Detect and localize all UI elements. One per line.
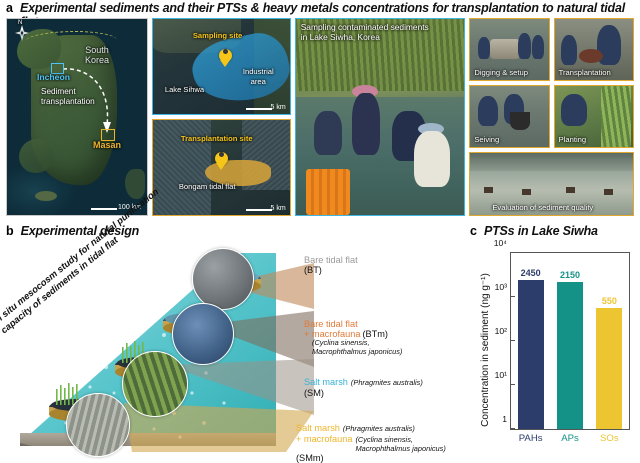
photo-caption: Transplantation bbox=[559, 68, 611, 78]
treatment-code: (SM) bbox=[304, 388, 423, 398]
mesocosm-marker bbox=[522, 189, 531, 195]
chart-y-tick-mark bbox=[511, 340, 515, 341]
panel-b-experimental-design: In situ mesocosm study for natural purif… bbox=[4, 243, 464, 461]
panel-c-bar-chart: Concentration in sediment (ng g⁻¹) 10⁴10… bbox=[466, 246, 638, 460]
photo-caption: Evaluation of sediment quality bbox=[492, 203, 593, 213]
sihwa-scale-bar: 5 km bbox=[246, 104, 286, 111]
map-south-korea: N South Korea Incheon Masan Sediment tra… bbox=[6, 18, 148, 216]
chart-plot-area: 10⁴10³10²10¹12450PAHs2150APs550SOs bbox=[510, 252, 630, 430]
chart-bar-value-label: 550 bbox=[602, 296, 617, 306]
inset-photo-bare-tidal-flat-macrofauna bbox=[172, 303, 234, 365]
photo-grid-row: Digging & setup Transplantation bbox=[469, 18, 634, 81]
treatment-name: Bare tidal flat bbox=[304, 255, 358, 265]
south-korea-label: South Korea bbox=[85, 45, 109, 65]
chart-y-tick-mark bbox=[511, 252, 515, 253]
chart-y-tick-label: 1 bbox=[502, 414, 511, 424]
chart-y-tick-mark bbox=[511, 296, 515, 297]
treatment-name: Salt marsh bbox=[304, 377, 348, 387]
chart-y-tick-label: 10³ bbox=[495, 282, 511, 292]
chart-x-tick-label: SOs bbox=[600, 433, 619, 444]
panel-c-header: c PTSs in Lake Siwha bbox=[470, 224, 598, 238]
field-worker bbox=[561, 94, 587, 126]
panel-a-figure-row: N South Korea Incheon Masan Sediment tra… bbox=[6, 18, 634, 216]
photo-caption: Planting bbox=[559, 135, 586, 145]
bongam-scale-label: 5 km bbox=[271, 205, 286, 212]
field-worker bbox=[518, 33, 531, 59]
chart-y-tick-label: 10² bbox=[495, 326, 511, 336]
panel-b-letter: b bbox=[6, 224, 14, 238]
far-shore bbox=[470, 153, 633, 171]
photo-evaluation-sediment-quality: Evaluation of sediment quality bbox=[469, 152, 634, 216]
photo-planting: Planting bbox=[554, 85, 634, 148]
mesocosm-cylinder bbox=[490, 39, 520, 59]
mesocosm-marker bbox=[566, 187, 575, 193]
orange-sample-crate bbox=[306, 169, 350, 215]
reed-plants bbox=[601, 86, 631, 148]
treatment-legend-btm: Bare tidal flat + macrofauna (BTm) (Cycl… bbox=[304, 319, 402, 357]
treatment-species: (Cyclina sinensis, Macrophthalmus japoni… bbox=[355, 436, 445, 454]
inset-photo-bare-tidal-flat bbox=[192, 248, 254, 310]
industrial-area-label: Industrial area bbox=[243, 67, 274, 86]
photo-transplantation: Transplantation bbox=[554, 18, 634, 81]
field-worker bbox=[561, 35, 577, 65]
chart-y-axis-label: Concentration in sediment (ng g⁻¹) bbox=[480, 260, 491, 440]
photo-grid-row: Seiving Planting bbox=[469, 85, 634, 148]
photo-caption: Seiving bbox=[474, 135, 499, 145]
transplantation-site-pin-icon bbox=[215, 148, 228, 165]
panel-a-letter: a bbox=[6, 1, 13, 15]
mesocosm-marker bbox=[604, 189, 613, 195]
photo-digging-setup: Digging & setup bbox=[469, 18, 549, 81]
incheon-label: Incheon bbox=[37, 73, 70, 83]
treatment-species: (Cyclina sinensis, Macrophthalmus japoni… bbox=[312, 339, 402, 357]
sampling-site-pin-icon bbox=[219, 45, 232, 62]
field-worker bbox=[352, 93, 380, 155]
photo-center-caption: Sampling contaminated sediments in Lake … bbox=[301, 22, 429, 43]
treatment-name: Bare tidal flat bbox=[304, 319, 402, 329]
sieving-bucket bbox=[510, 112, 530, 130]
mesocosm-marker bbox=[484, 187, 493, 193]
photo-field-sampling: Sampling contaminated sediments in Lake … bbox=[295, 18, 466, 216]
field-workflow-photo-grid: Digging & setup Transplantation Seiving … bbox=[469, 18, 634, 216]
inset-photo-salt-marsh-macrofauna bbox=[66, 393, 130, 457]
chart-y-tick-label: 10¹ bbox=[495, 370, 511, 380]
photo-seiving: Seiving bbox=[469, 85, 549, 148]
treatment-code: (BT) bbox=[304, 265, 358, 275]
inset-photo-salt-marsh bbox=[122, 351, 188, 417]
sihwa-scale-label: 5 km bbox=[271, 104, 286, 111]
lake-sihwa-label: Lake Sihwa bbox=[165, 85, 204, 95]
field-worker bbox=[414, 131, 450, 187]
bongam-tidal-flat-label: Bongam tidal flat bbox=[179, 182, 236, 192]
masan-label: Masan bbox=[93, 141, 121, 151]
chart-bar: 2150APs bbox=[557, 282, 583, 429]
chart-y-tick-mark bbox=[511, 384, 515, 385]
sampling-site-label: Sampling site bbox=[193, 31, 242, 41]
compass-north-label: N bbox=[18, 19, 22, 29]
chart-y-tick-mark bbox=[511, 428, 515, 429]
site-maps-column: Sampling site Lake Sihwa Industrial area… bbox=[152, 18, 291, 216]
transplantation-site-label: Transplantation site bbox=[181, 134, 253, 144]
korea-southwest-land bbox=[19, 139, 53, 173]
sediment-transplantation-label: Sediment transplantation bbox=[41, 87, 95, 106]
treatment-extra: + macrofauna bbox=[296, 434, 352, 444]
sediment-sample bbox=[579, 49, 603, 63]
field-worker bbox=[532, 35, 544, 59]
treatment-legend-smm: Salt marsh (Phragmites australis) + macr… bbox=[296, 423, 446, 463]
chart-bar: 2450PAHs bbox=[518, 280, 544, 429]
treatment-species: (Phragmites australis) bbox=[351, 379, 423, 388]
panel-c-letter: c bbox=[470, 224, 477, 238]
treatment-species-plant: (Phragmites australis) bbox=[343, 425, 415, 434]
panel-c-title: PTSs in Lake Siwha bbox=[484, 224, 598, 238]
field-worker bbox=[478, 96, 498, 126]
chart-y-tick-label: 10⁴ bbox=[494, 238, 511, 248]
chart-x-tick-label: PAHs bbox=[519, 433, 543, 444]
chart-bar: 550SOs bbox=[596, 308, 622, 429]
field-worker bbox=[478, 37, 490, 59]
map-lake-sihwa: Sampling site Lake Sihwa Industrial area… bbox=[152, 18, 291, 115]
treatment-legend-bt: Bare tidal flat (BT) bbox=[304, 255, 358, 275]
map-bongam-tidal-flat: Transplantation site Bongam tidal flat 5… bbox=[152, 119, 291, 216]
field-worker bbox=[314, 111, 342, 155]
treatment-name: Salt marsh bbox=[296, 423, 340, 433]
photo-caption: Digging & setup bbox=[474, 68, 528, 78]
jeju-island bbox=[35, 191, 57, 201]
chart-bar-value-label: 2150 bbox=[560, 270, 580, 280]
treatment-legend-sm: Salt marsh (Phragmites australis) (SM) bbox=[304, 377, 423, 398]
chart-x-tick-label: APs bbox=[561, 433, 579, 444]
bongam-scale-bar: 5 km bbox=[246, 205, 286, 212]
chart-bar-value-label: 2450 bbox=[521, 268, 541, 278]
